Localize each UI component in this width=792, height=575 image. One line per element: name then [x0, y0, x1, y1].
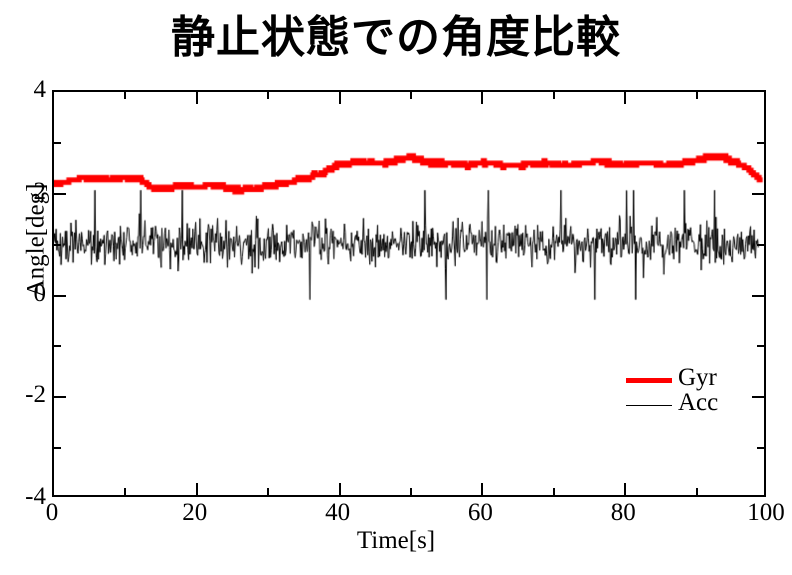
axis-tick — [410, 92, 412, 99]
x-tick-label: 20 — [155, 500, 235, 525]
axis-tick — [752, 193, 764, 195]
axis-tick — [481, 483, 483, 495]
axis-tick — [757, 447, 764, 449]
y-tick-label: -2 — [4, 382, 46, 407]
axis-tick — [267, 488, 269, 495]
axis-tick — [54, 142, 61, 144]
axis-tick — [624, 483, 626, 495]
x-tick-label: 80 — [583, 500, 663, 525]
axis-tick — [54, 345, 61, 347]
legend-label-gyr: Gyr — [678, 365, 717, 390]
axis-tick — [553, 488, 555, 495]
axis-tick — [54, 396, 66, 398]
page-title: 静止状態での角度比較 — [0, 8, 792, 68]
legend: Gyr Acc — [626, 368, 766, 418]
plot-area — [52, 90, 766, 497]
axis-tick — [624, 92, 626, 104]
axis-tick — [553, 92, 555, 99]
axis-tick — [124, 92, 126, 99]
legend-label-acc: Acc — [678, 390, 718, 415]
plot-canvas — [54, 92, 764, 495]
axis-tick — [339, 483, 341, 495]
x-tick-label: 0 — [12, 500, 92, 525]
axis-tick — [196, 92, 198, 104]
axis-tick — [54, 244, 61, 246]
axis-tick — [696, 488, 698, 495]
axis-tick — [196, 483, 198, 495]
axis-tick — [757, 142, 764, 144]
axis-tick — [54, 295, 66, 297]
axis-tick — [124, 488, 126, 495]
axis-tick — [54, 193, 66, 195]
x-tick-label: 60 — [440, 500, 520, 525]
legend-swatch-acc-icon — [626, 405, 672, 406]
x-axis-title: Time[s] — [0, 528, 792, 553]
chart-root: 静止状態での角度比較 -4-2024 020406080100 Angle[de… — [0, 0, 792, 575]
axis-tick — [267, 92, 269, 99]
axis-tick — [410, 488, 412, 495]
y-tick-label: 4 — [4, 77, 46, 102]
legend-item-acc: Acc — [626, 393, 766, 418]
x-tick-label: 100 — [726, 500, 792, 525]
y-axis-title: Angle[deg] — [24, 181, 49, 301]
axis-tick — [481, 92, 483, 104]
legend-swatch-gyr-icon — [626, 378, 672, 383]
axis-tick — [757, 345, 764, 347]
axis-tick — [339, 92, 341, 104]
x-tick-label: 40 — [298, 500, 378, 525]
axis-tick — [54, 447, 61, 449]
axis-tick — [757, 244, 764, 246]
axis-tick — [752, 295, 764, 297]
axis-tick — [696, 92, 698, 99]
